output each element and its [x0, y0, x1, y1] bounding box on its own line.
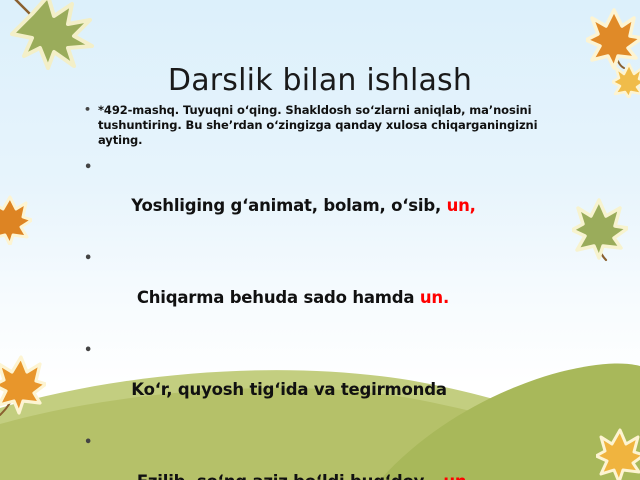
list-item-poem-line-4: • Ezilib, so‘ng aziz bo‘ldi bug‘doy – un… [82, 435, 582, 480]
poem-line-2-accent: un. [420, 288, 449, 307]
task-prompt-text: *492-mashq. Tuyuqni o‘qing. Shakldosh so… [98, 103, 538, 147]
poem-line-1-accent: un, [447, 196, 476, 215]
slide-canvas: Darslik bilan ishlash • *492-mashq. Tuyu… [0, 0, 640, 480]
bullet-marker-icon: • [84, 103, 91, 118]
content-bullet-list: • *492-mashq. Tuyuqni o‘qing. Shakldosh … [82, 103, 582, 480]
poem-line-3-text: Ko‘r, quyosh tig‘ida va tegirmonda [131, 380, 447, 399]
bullet-marker-icon: • [84, 252, 92, 267]
bullet-marker-icon: • [84, 436, 92, 451]
list-item-poem-line-1: • Yoshliging g‘animat, bolam, o‘sib, un, [82, 160, 582, 236]
leaf-orange-left-icon [0, 195, 32, 245]
leaf-orange-top-right-icon [586, 8, 640, 70]
list-item-poem-line-3: • Ko‘r, quyosh tig‘ida va tegirmonda [82, 343, 582, 419]
slide-title: Darslik bilan ishlash [0, 64, 640, 97]
list-item-poem-line-2: • Chiqarma behuda sado hamda un. [82, 251, 582, 327]
poem-line-4-accent: un. [443, 472, 472, 480]
poem-line-4-text: Ezilib, so‘ng aziz bo‘ldi bug‘doy – [131, 472, 443, 480]
bullet-marker-icon: • [84, 161, 92, 176]
leaf-green-top-left-icon [8, 0, 98, 74]
bullet-marker-icon: • [84, 344, 92, 359]
poem-line-1-text: Yoshliging g‘animat, bolam, o‘sib, [131, 196, 446, 215]
list-item-task-prompt: • *492-mashq. Tuyuqni o‘qing. Shakldosh … [82, 103, 582, 149]
poem-line-2-text: Chiqarma behuda sado hamda [131, 288, 420, 307]
